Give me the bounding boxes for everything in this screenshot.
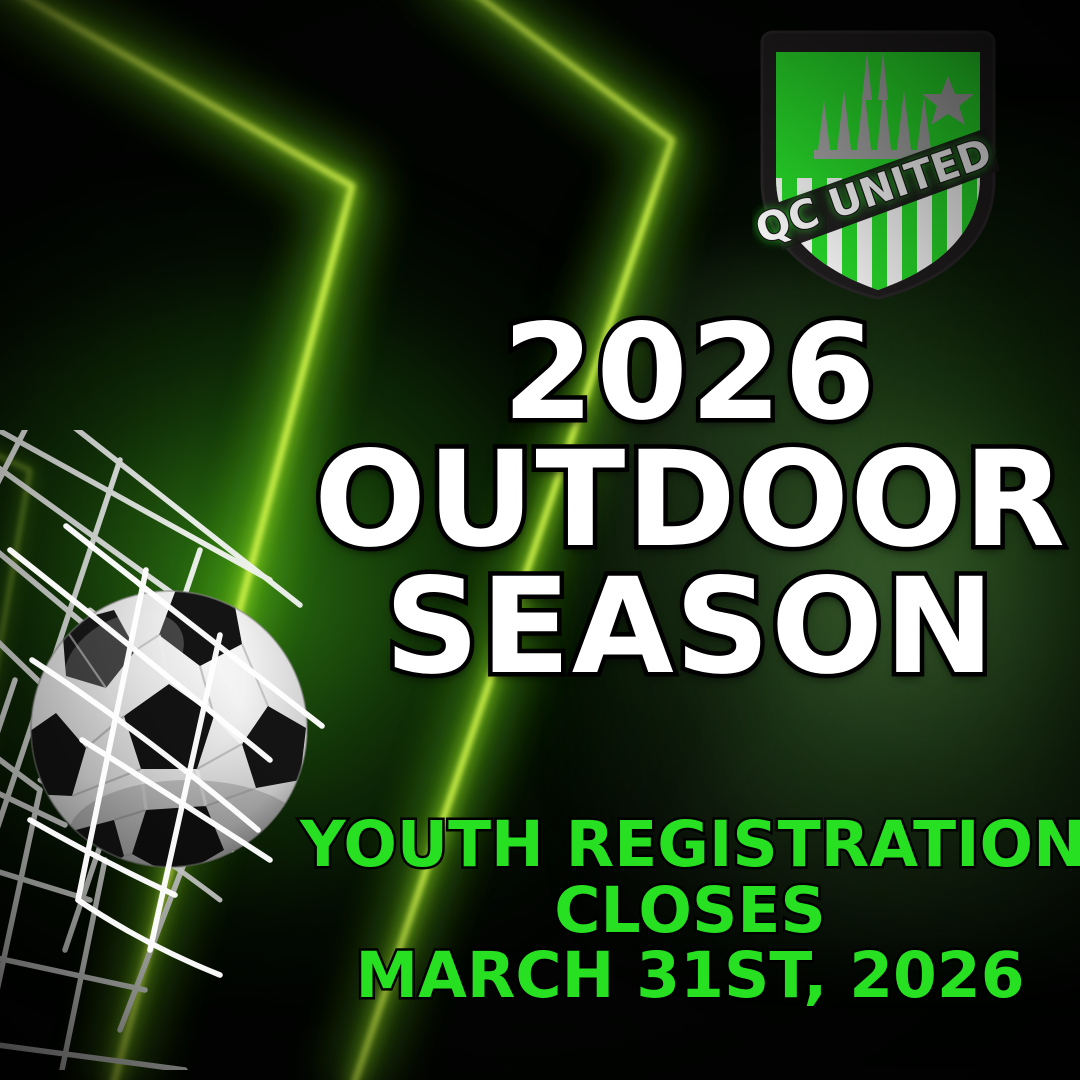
announcement-line-1: YOUTH REGISTRATION [300,812,1080,878]
headline-block: 2026 OUTDOOR SEASON [310,312,1070,688]
announcement-block: YOUTH REGISTRATION CLOSES MARCH 31ST, 20… [300,812,1080,1009]
announcement-line-2: CLOSES [300,878,1080,944]
announcement-line-3: MARCH 31ST, 2026 [300,943,1080,1009]
poster-canvas: QC UNITED QC UNITED 2026 OUTDOOR SEASON … [0,0,1080,1080]
headline-outdoor: OUTDOOR [310,439,1070,562]
headline-season: SEASON [310,566,1070,689]
headline-year: 2026 [310,312,1070,435]
